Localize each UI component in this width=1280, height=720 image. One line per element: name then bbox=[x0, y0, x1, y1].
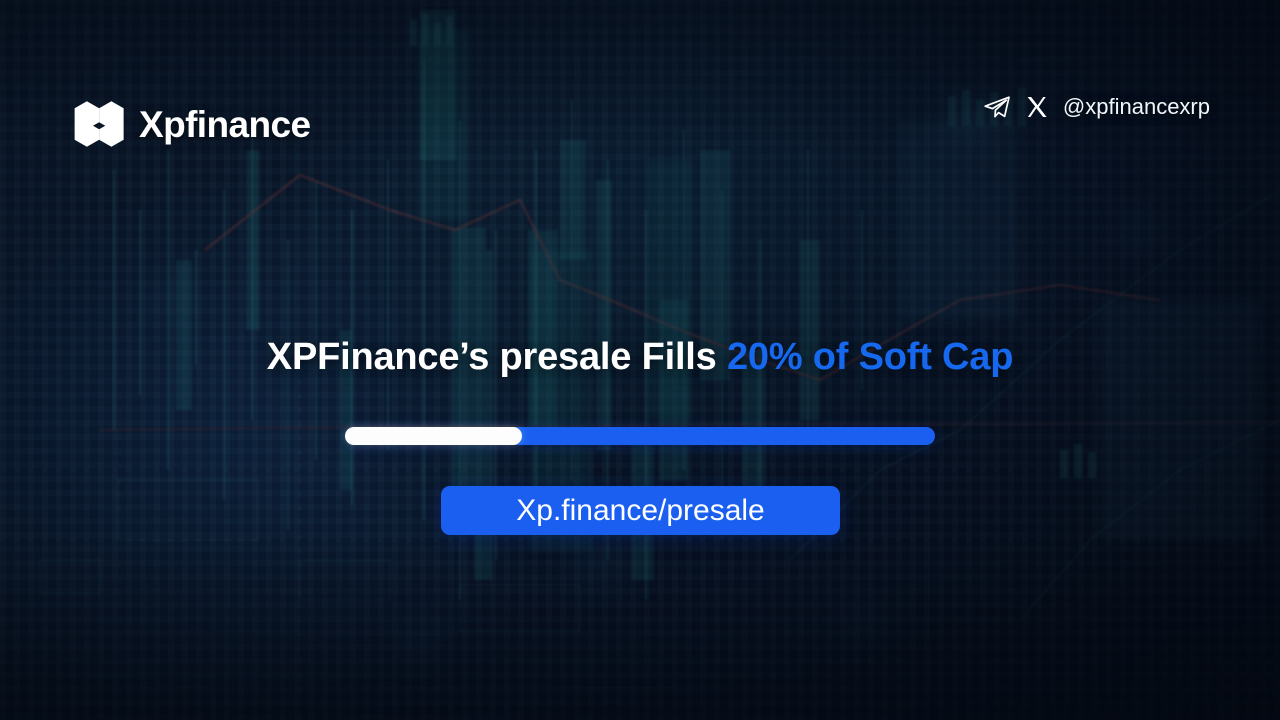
social-handle-group[interactable]: @xpfinancexrp bbox=[983, 95, 1210, 119]
headline-accent: 20% of Soft Cap bbox=[727, 336, 1013, 378]
presale-progress-bar[interactable] bbox=[345, 427, 935, 445]
headline-lead: XPFinance’s presale Fills bbox=[267, 336, 727, 378]
presale-progress-fill bbox=[345, 427, 522, 445]
x-twitter-icon[interactable] bbox=[1025, 95, 1049, 119]
promo-banner: Xpfinance @xpfinancexrp XPFinance’s pres… bbox=[0, 0, 1280, 720]
page-title: XPFinance’s presale Fills 20% of Soft Ca… bbox=[0, 335, 1280, 381]
brand-name: Xpfinance bbox=[139, 106, 310, 143]
social-handle-text: @xpfinancexrp bbox=[1063, 96, 1210, 118]
brand-logo[interactable]: Xpfinance bbox=[72, 96, 310, 152]
presale-link-button[interactable]: Xp.finance/presale bbox=[441, 486, 840, 535]
telegram-icon[interactable] bbox=[983, 95, 1011, 119]
xpfinance-hex-logo-icon bbox=[72, 96, 128, 152]
